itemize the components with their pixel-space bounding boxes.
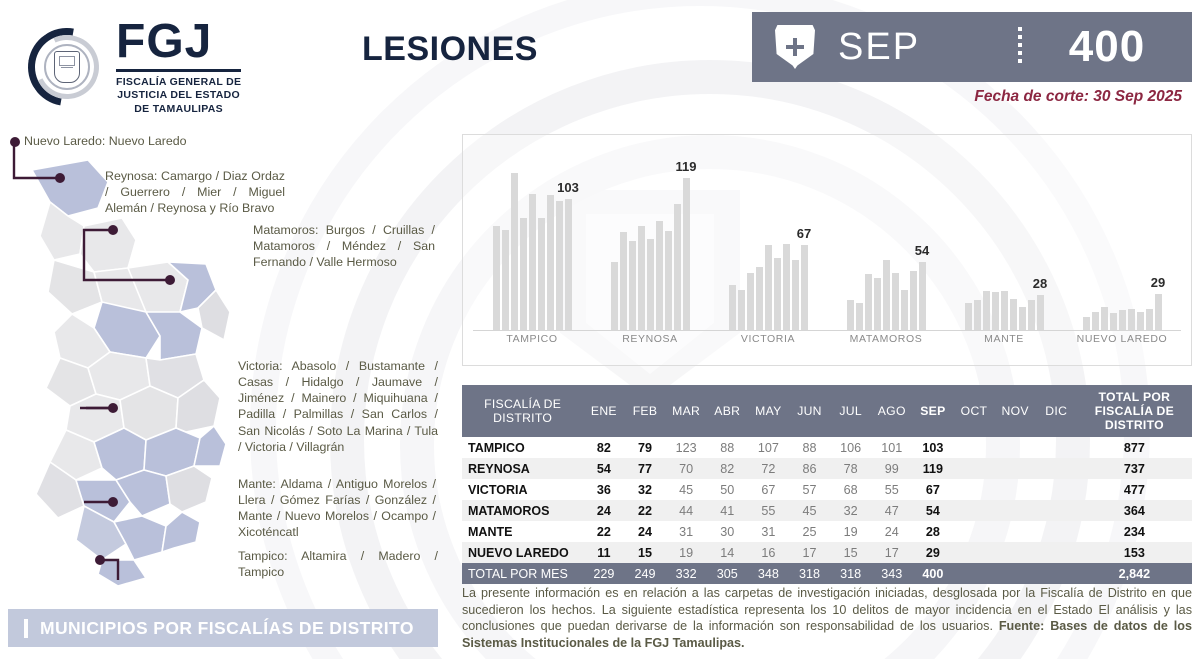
cell-jul: 15 xyxy=(830,542,871,563)
cell-sep: 103 xyxy=(912,437,953,458)
cell-jun: 25 xyxy=(789,521,830,542)
cell-mar: 123 xyxy=(666,437,707,458)
table-row: NUEVO LAREDO111519141617151729153 xyxy=(462,542,1192,563)
total-row-label: TOTAL POR MES xyxy=(462,563,583,584)
bar-ago xyxy=(1028,300,1035,331)
cell-nov xyxy=(995,500,1036,521)
bar-ago xyxy=(792,260,799,331)
row-district-name: MATAMOROS xyxy=(462,500,583,521)
row-district-name: NUEVO LAREDO xyxy=(462,542,583,563)
bar-tick-icon xyxy=(24,619,28,638)
cell-abr: 82 xyxy=(707,458,748,479)
cell-may: 55 xyxy=(748,500,789,521)
bar-mar xyxy=(865,274,872,331)
cell-jul: 32 xyxy=(830,500,871,521)
table-row: TAMPICO82791238810788106101103877 xyxy=(462,437,1192,458)
bar-mar xyxy=(747,273,754,331)
chart-label-victoria: VICTORIA xyxy=(709,333,827,357)
table-header-row: FISCALÍA DE DISTRITO ENE FEB MAR ABR MAY… xyxy=(462,385,1192,437)
cell-ago: 17 xyxy=(871,542,912,563)
bar-ene xyxy=(847,300,854,331)
map-panel: Nuevo Laredo: Nuevo Laredo Reynosa: Cama… xyxy=(0,120,460,600)
footnote: La presente información es en relación a… xyxy=(462,585,1192,651)
cell-feb: 77 xyxy=(624,458,665,479)
cell-total: 477 xyxy=(1077,479,1192,500)
bar-may xyxy=(765,245,772,331)
cell-ago: 47 xyxy=(871,500,912,521)
bar-jul xyxy=(783,244,790,331)
chart-group-matamoros: 54 xyxy=(827,143,945,331)
total-cell-may: 348 xyxy=(748,563,789,584)
cell-nov xyxy=(995,458,1036,479)
cell-ago: 55 xyxy=(871,479,912,500)
logo-subtitle-line2: JUSTICIA DEL ESTADO xyxy=(116,89,241,102)
cell-feb: 22 xyxy=(624,500,665,521)
table-total-row: TOTAL POR MES229249332305348318318343400… xyxy=(462,563,1192,584)
table-body: TAMPICO82791238810788106101103877REYNOSA… xyxy=(462,437,1192,584)
shield-plus-icon xyxy=(752,25,838,69)
bar-value-label: 119 xyxy=(676,159,697,174)
bar-feb xyxy=(620,232,627,331)
cell-may: 72 xyxy=(748,458,789,479)
bar-sep: 103 xyxy=(565,199,572,331)
logo-subtitle-line3: DE TAMAULIPAS xyxy=(116,103,241,116)
bar-may xyxy=(1001,291,1008,331)
chart-group-mante: 28 xyxy=(945,143,1063,331)
bar-mar xyxy=(1101,307,1108,331)
bar-ago xyxy=(674,204,681,331)
cell-jul: 106 xyxy=(830,437,871,458)
bar-jul xyxy=(665,231,672,331)
cell-sep: 67 xyxy=(912,479,953,500)
municipios-title-label: MUNICIPIOS POR FISCALÍAS DE DISTRITO xyxy=(40,618,414,639)
cell-oct xyxy=(953,542,994,563)
cell-abr: 14 xyxy=(707,542,748,563)
total-cell-jul: 318 xyxy=(830,563,871,584)
cell-nov xyxy=(995,479,1036,500)
total-cell-feb: 249 xyxy=(624,563,665,584)
district-data-table: FISCALÍA DE DISTRITO ENE FEB MAR ABR MAY… xyxy=(462,385,1192,584)
bar-sep: 28 xyxy=(1037,295,1044,331)
cell-dic xyxy=(1036,521,1077,542)
chart-label-mante: MANTE xyxy=(945,333,1063,357)
chart-group-victoria: 67 xyxy=(709,143,827,331)
row-district-name: REYNOSA xyxy=(462,458,583,479)
chart-group-nuevo-laredo: 29 xyxy=(1063,143,1181,331)
map-annotation-matamoros: Matamoros: Burgos / Cruillas / Matamoros… xyxy=(253,222,435,270)
bar-feb xyxy=(974,300,981,331)
bar-jun xyxy=(538,218,545,331)
cell-dic xyxy=(1036,458,1077,479)
chart-group-labels: TAMPICOREYNOSAVICTORIAMATAMOROSMANTENUEV… xyxy=(473,333,1181,357)
cell-mar: 19 xyxy=(666,542,707,563)
th-fiscalia: FISCALÍA DE DISTRITO xyxy=(462,385,583,437)
cell-mar: 70 xyxy=(666,458,707,479)
total-cell-mar: 332 xyxy=(666,563,707,584)
cell-dic xyxy=(1036,437,1077,458)
cell-jul: 19 xyxy=(830,521,871,542)
cell-sep: 29 xyxy=(912,542,953,563)
cell-feb: 79 xyxy=(624,437,665,458)
cell-jun: 45 xyxy=(789,500,830,521)
chart-axis-line xyxy=(473,330,1181,331)
chart-group-container: 10311967542829 xyxy=(473,143,1181,331)
cell-total: 364 xyxy=(1077,500,1192,521)
bar-ago xyxy=(910,271,917,331)
total-cell-oct xyxy=(953,563,994,584)
cell-dic xyxy=(1036,500,1077,521)
bar-sep: 119 xyxy=(683,178,690,331)
bar-feb xyxy=(502,230,509,331)
bar-feb xyxy=(1092,312,1099,331)
cell-ago: 101 xyxy=(871,437,912,458)
table-row: MANTE222431303125192428234 xyxy=(462,521,1192,542)
bar-may xyxy=(529,194,536,331)
total-cell-abr: 305 xyxy=(707,563,748,584)
cell-oct xyxy=(953,500,994,521)
bar-value-label: 103 xyxy=(557,180,579,195)
bar-ene xyxy=(611,262,618,331)
cell-jul: 78 xyxy=(830,458,871,479)
bar-mar xyxy=(511,173,518,331)
bar-may xyxy=(883,260,890,331)
row-district-name: TAMPICO xyxy=(462,437,583,458)
bar-jul xyxy=(1137,312,1144,331)
cell-total: 877 xyxy=(1077,437,1192,458)
cell-sep: 28 xyxy=(912,521,953,542)
bar-feb xyxy=(738,290,745,331)
bar-jul xyxy=(547,195,554,331)
cell-abr: 30 xyxy=(707,521,748,542)
bar-jun xyxy=(892,273,899,331)
cell-abr: 41 xyxy=(707,500,748,521)
cell-mar: 44 xyxy=(666,500,707,521)
total-cell-nov xyxy=(995,563,1036,584)
map-annotation-nuevo-laredo: Nuevo Laredo: Nuevo Laredo xyxy=(24,133,254,149)
bar-value-label: 28 xyxy=(1033,276,1047,291)
cell-total: 153 xyxy=(1077,542,1192,563)
cell-ene: 82 xyxy=(583,437,624,458)
grand-total-cell: 2,842 xyxy=(1077,563,1192,584)
cell-ene: 54 xyxy=(583,458,624,479)
cell-jul: 68 xyxy=(830,479,871,500)
cell-may: 67 xyxy=(748,479,789,500)
total-cell-ago: 343 xyxy=(871,563,912,584)
cell-feb: 32 xyxy=(624,479,665,500)
map-annotation-mante: Mante: Aldama / Antiguo Morelos / Llera … xyxy=(238,476,436,541)
total-cell-dic xyxy=(1036,563,1077,584)
bar-feb xyxy=(856,303,863,331)
chart-group-tampico: 103 xyxy=(473,143,591,331)
th-jul: JUL xyxy=(830,385,871,437)
cell-ago: 24 xyxy=(871,521,912,542)
bar-value-label: 29 xyxy=(1151,275,1165,290)
cell-nov xyxy=(995,437,1036,458)
total-cell-jun: 318 xyxy=(789,563,830,584)
th-sep: SEP xyxy=(912,385,953,437)
bar-abr xyxy=(520,218,527,331)
bar-jun xyxy=(774,258,781,331)
cell-abr: 50 xyxy=(707,479,748,500)
municipios-title-bar: MUNICIPIOS POR FISCALÍAS DE DISTRITO xyxy=(8,609,438,647)
row-district-name: VICTORIA xyxy=(462,479,583,500)
th-abr: ABR xyxy=(707,385,748,437)
bar-may xyxy=(647,239,654,331)
cell-ene: 22 xyxy=(583,521,624,542)
total-cell-sep: 400 xyxy=(912,563,953,584)
logo-subtitle-line1: FISCALÍA GENERAL DE xyxy=(116,76,241,89)
cell-mar: 45 xyxy=(666,479,707,500)
cell-ene: 11 xyxy=(583,542,624,563)
bar-ene xyxy=(493,226,500,331)
cell-jun: 17 xyxy=(789,542,830,563)
cell-ago: 99 xyxy=(871,458,912,479)
table-row: MATAMOROS242244415545324754364 xyxy=(462,500,1192,521)
th-may: MAY xyxy=(748,385,789,437)
bar-ago xyxy=(1146,309,1153,331)
bar-mar xyxy=(983,291,990,331)
total-cell-ene: 229 xyxy=(583,563,624,584)
cell-total: 234 xyxy=(1077,521,1192,542)
chart-group-reynosa: 119 xyxy=(591,143,709,331)
th-ene: ENE xyxy=(583,385,624,437)
bar-jul xyxy=(1019,307,1026,331)
th-nov: NOV xyxy=(995,385,1036,437)
cell-oct xyxy=(953,437,994,458)
logo-divider xyxy=(116,69,241,72)
map-annotation-tampico: Tampico: Altamira / Madero / Tampico xyxy=(238,548,438,580)
bar-value-label: 67 xyxy=(797,226,811,241)
bar-mar xyxy=(629,241,636,331)
cell-nov xyxy=(995,542,1036,563)
district-bar-chart: 10311967542829 TAMPICOREYNOSAVICTORIAMAT… xyxy=(462,134,1192,366)
cell-nov xyxy=(995,521,1036,542)
bar-abr xyxy=(756,267,763,331)
bar-ago xyxy=(556,201,563,331)
th-jun: JUN xyxy=(789,385,830,437)
table-row: REYNOSA5477708272867899119737 xyxy=(462,458,1192,479)
th-total: TOTAL POR FISCALÍA DE DISTRITO xyxy=(1077,385,1192,437)
cell-feb: 24 xyxy=(624,521,665,542)
cell-jun: 86 xyxy=(789,458,830,479)
cell-oct xyxy=(953,458,994,479)
bar-jun xyxy=(656,221,663,331)
th-feb: FEB xyxy=(624,385,665,437)
kpi-month: SEP xyxy=(838,26,1018,69)
cell-ene: 24 xyxy=(583,500,624,521)
bar-jun xyxy=(1128,309,1135,331)
cell-jun: 57 xyxy=(789,479,830,500)
bar-ene xyxy=(1083,317,1090,331)
kpi-value: 400 xyxy=(1022,22,1192,72)
th-dic: DIC xyxy=(1036,385,1077,437)
bar-sep: 29 xyxy=(1155,294,1162,331)
chart-label-tampico: TAMPICO xyxy=(473,333,591,357)
cell-sep: 119 xyxy=(912,458,953,479)
cell-oct xyxy=(953,479,994,500)
bar-abr xyxy=(992,292,999,331)
th-mar: MAR xyxy=(666,385,707,437)
table-row: VICTORIA363245506757685567477 xyxy=(462,479,1192,500)
cut-date: Fecha de corte: 30 Sep 2025 xyxy=(974,88,1182,106)
chart-label-nuevo-laredo: NUEVO LAREDO xyxy=(1063,333,1181,357)
th-oct: OCT xyxy=(953,385,994,437)
bar-value-label: 54 xyxy=(915,243,929,258)
chart-label-reynosa: REYNOSA xyxy=(591,333,709,357)
cell-may: 107 xyxy=(748,437,789,458)
chart-label-matamoros: MATAMOROS xyxy=(827,333,945,357)
bar-abr xyxy=(1110,313,1117,331)
cell-sep: 54 xyxy=(912,500,953,521)
bar-abr xyxy=(638,226,645,331)
bar-ene xyxy=(965,303,972,331)
cell-total: 737 xyxy=(1077,458,1192,479)
map-annotation-victoria: Victoria: Abasolo / Bustamante / Casas /… xyxy=(238,358,438,455)
bar-ene xyxy=(729,285,736,331)
cell-may: 31 xyxy=(748,521,789,542)
bar-jun xyxy=(1010,299,1017,331)
cell-jun: 88 xyxy=(789,437,830,458)
cell-abr: 88 xyxy=(707,437,748,458)
cell-oct xyxy=(953,521,994,542)
cell-mar: 31 xyxy=(666,521,707,542)
kpi-badge: SEP 400 xyxy=(752,12,1192,82)
map-annotation-reynosa: Reynosa: Camargo / Diaz Ordaz / Guerrero… xyxy=(105,168,285,216)
cell-may: 16 xyxy=(748,542,789,563)
bar-abr xyxy=(874,278,881,331)
bar-may xyxy=(1119,310,1126,331)
th-ago: AGO xyxy=(871,385,912,437)
cell-feb: 15 xyxy=(624,542,665,563)
cell-ene: 36 xyxy=(583,479,624,500)
bar-jul xyxy=(901,290,908,331)
cell-dic xyxy=(1036,479,1077,500)
bar-sep: 54 xyxy=(919,262,926,331)
row-district-name: MANTE xyxy=(462,521,583,542)
cell-dic xyxy=(1036,542,1077,563)
bar-sep: 67 xyxy=(801,245,808,331)
